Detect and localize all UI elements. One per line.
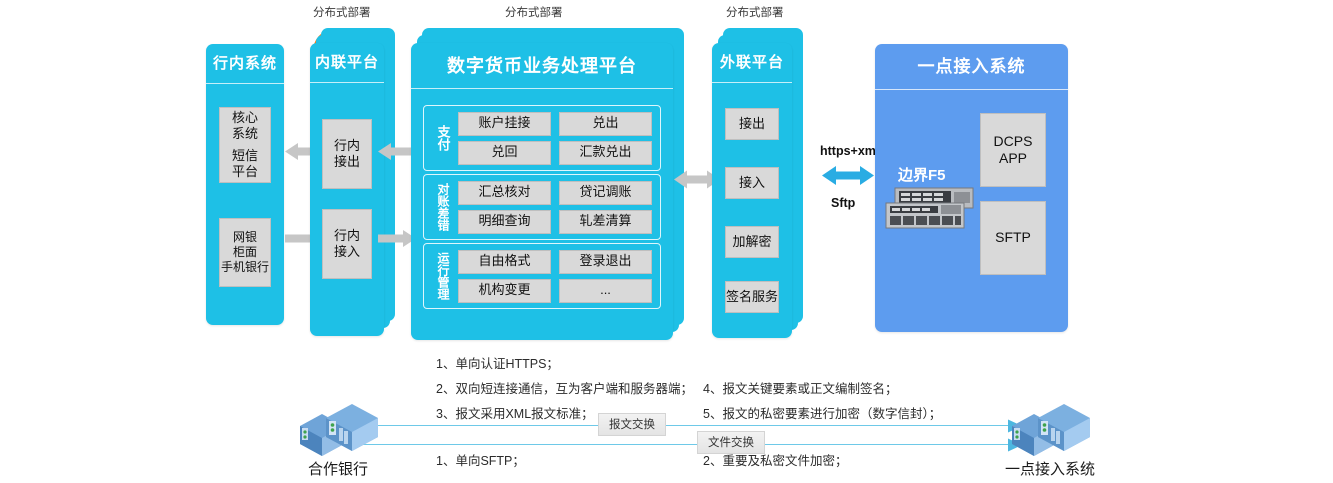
- message-exchange-line: [345, 425, 1015, 426]
- chip-line: 行内: [334, 228, 360, 244]
- file-exchange-line: [345, 444, 1015, 445]
- protocol-label-https-xml: https+xml: [820, 144, 879, 158]
- chip-credit-adjust: 贷记调账: [559, 181, 652, 205]
- group-payment: 支付 账户挂接 兑出 兑回 汇款兑出: [423, 105, 661, 171]
- chip-intranet-outbound: 行内 接出: [322, 119, 372, 189]
- chip-core-system: 核心 系统 短信 平台: [219, 107, 271, 183]
- chip-account-link: 账户挂接: [458, 112, 551, 136]
- arrow-bidirectional-protocol: [822, 165, 874, 186]
- chip-line: APP: [999, 150, 1027, 168]
- chip-encrypt-decrypt: 加解密: [725, 226, 779, 258]
- group-label-payment: 支付: [430, 125, 456, 151]
- chip-institution-change: 机构变更: [458, 279, 551, 303]
- message-note-1: 1、单向认证HTTPS；: [436, 353, 559, 372]
- chip-exchange-back: 兑回: [458, 141, 551, 165]
- group-label-operation-management: 运行管理: [430, 252, 456, 300]
- server-icon-single-access: [1008, 404, 1092, 456]
- server-label-single-access: 一点接入系统: [998, 458, 1102, 479]
- chip-ebank-counter-mobile: 网银 柜面 手机银行: [219, 218, 271, 287]
- chip-detail-query: 明细查询: [458, 210, 551, 234]
- file-note-1: 1、单向SFTP；: [436, 450, 525, 469]
- panel-bank-internal-system: 行内系统 核心 系统 短信 平台 网银 柜面 手机银行: [206, 44, 284, 325]
- network-appliance-icon: [883, 186, 978, 232]
- message-note-5: 5、报文的私密要素进行加密（数字信封）；: [703, 403, 941, 422]
- chip-line: 手机银行: [221, 260, 269, 275]
- chip-line: 接出: [334, 154, 360, 170]
- group-reconciliation: 对账差错 汇总核对 贷记调账 明细查询 轧差清算: [423, 174, 661, 240]
- chip-remittance-out: 汇款兑出: [559, 141, 652, 165]
- chip-more: ...: [559, 279, 652, 303]
- badge-message-exchange: 报文交换: [598, 413, 666, 436]
- chip-summary-check: 汇总核对: [458, 181, 551, 205]
- panel-intranet-platform: 内联平台 行内 接出 行内 接入: [310, 43, 384, 336]
- panel-external-platform: 外联平台 接出 接入 加解密 签名服务: [712, 43, 792, 338]
- protocol-label-sftp: Sftp: [831, 196, 855, 210]
- chip-dcps-app: DCPS APP: [980, 113, 1046, 187]
- chip-line: 核心: [232, 110, 258, 126]
- panel-dcep-business-platform: 数字货币业务处理平台 支付 账户挂接 兑出 兑回 汇款兑出 对账差错 汇总核对 …: [411, 43, 673, 340]
- chip-line: 系统: [232, 126, 258, 142]
- message-note-3: 3、报文采用XML报文标准；: [436, 403, 594, 422]
- message-note-2: 2、双向短连接通信，互为客户端和服务器端；: [436, 378, 693, 397]
- panel-single-access-system: 一点接入系统 边界F5: [875, 44, 1068, 332]
- server-icon-partner-bank: [296, 404, 380, 456]
- chip-line: DCPS: [994, 133, 1033, 151]
- group-label-reconciliation: 对账差错: [430, 183, 456, 231]
- chip-line: 平台: [232, 164, 258, 180]
- server-label-partner-bank: 合作银行: [290, 458, 386, 479]
- architecture-diagram: 分布式部署 分布式部署 分布式部署 行内系统 核心 系统 短信 平台 网银: [0, 0, 1333, 483]
- panel-title-bank-internal-system: 行内系统: [206, 44, 284, 84]
- message-note-4: 4、报文关键要素或正文编制签名；: [703, 378, 897, 397]
- chip-exchange-out: 兑出: [559, 112, 652, 136]
- chip-line: 行内: [334, 138, 360, 154]
- panel-title-single-access-system: 一点接入系统: [875, 44, 1068, 90]
- chip-sftp: SFTP: [980, 201, 1046, 275]
- chip-line: 柜面: [233, 245, 257, 260]
- chip-intranet-inbound: 行内 接入: [322, 209, 372, 279]
- chip-line: 接入: [334, 244, 360, 260]
- chip-free-format: 自由格式: [458, 250, 551, 274]
- chip-line: 短信: [232, 148, 258, 164]
- label-border-f5: 边界F5: [898, 164, 946, 185]
- chip-login-logout: 登录退出: [559, 250, 652, 274]
- file-note-2: 2、重要及私密文件加密；: [703, 450, 847, 469]
- panel-title-intranet-platform: 内联平台: [310, 43, 384, 83]
- chip-line: 网银: [233, 230, 257, 245]
- chip-netting-settlement: 轧差清算: [559, 210, 652, 234]
- chip-external-inbound: 接入: [725, 167, 779, 199]
- panel-title-external-platform: 外联平台: [712, 43, 792, 83]
- group-operation-management: 运行管理 自由格式 登录退出 机构变更 ...: [423, 243, 661, 309]
- chip-signature-service: 签名服务: [725, 281, 779, 313]
- panel-title-dcep-business-platform: 数字货币业务处理平台: [411, 43, 673, 89]
- chip-external-outbound: 接出: [725, 108, 779, 140]
